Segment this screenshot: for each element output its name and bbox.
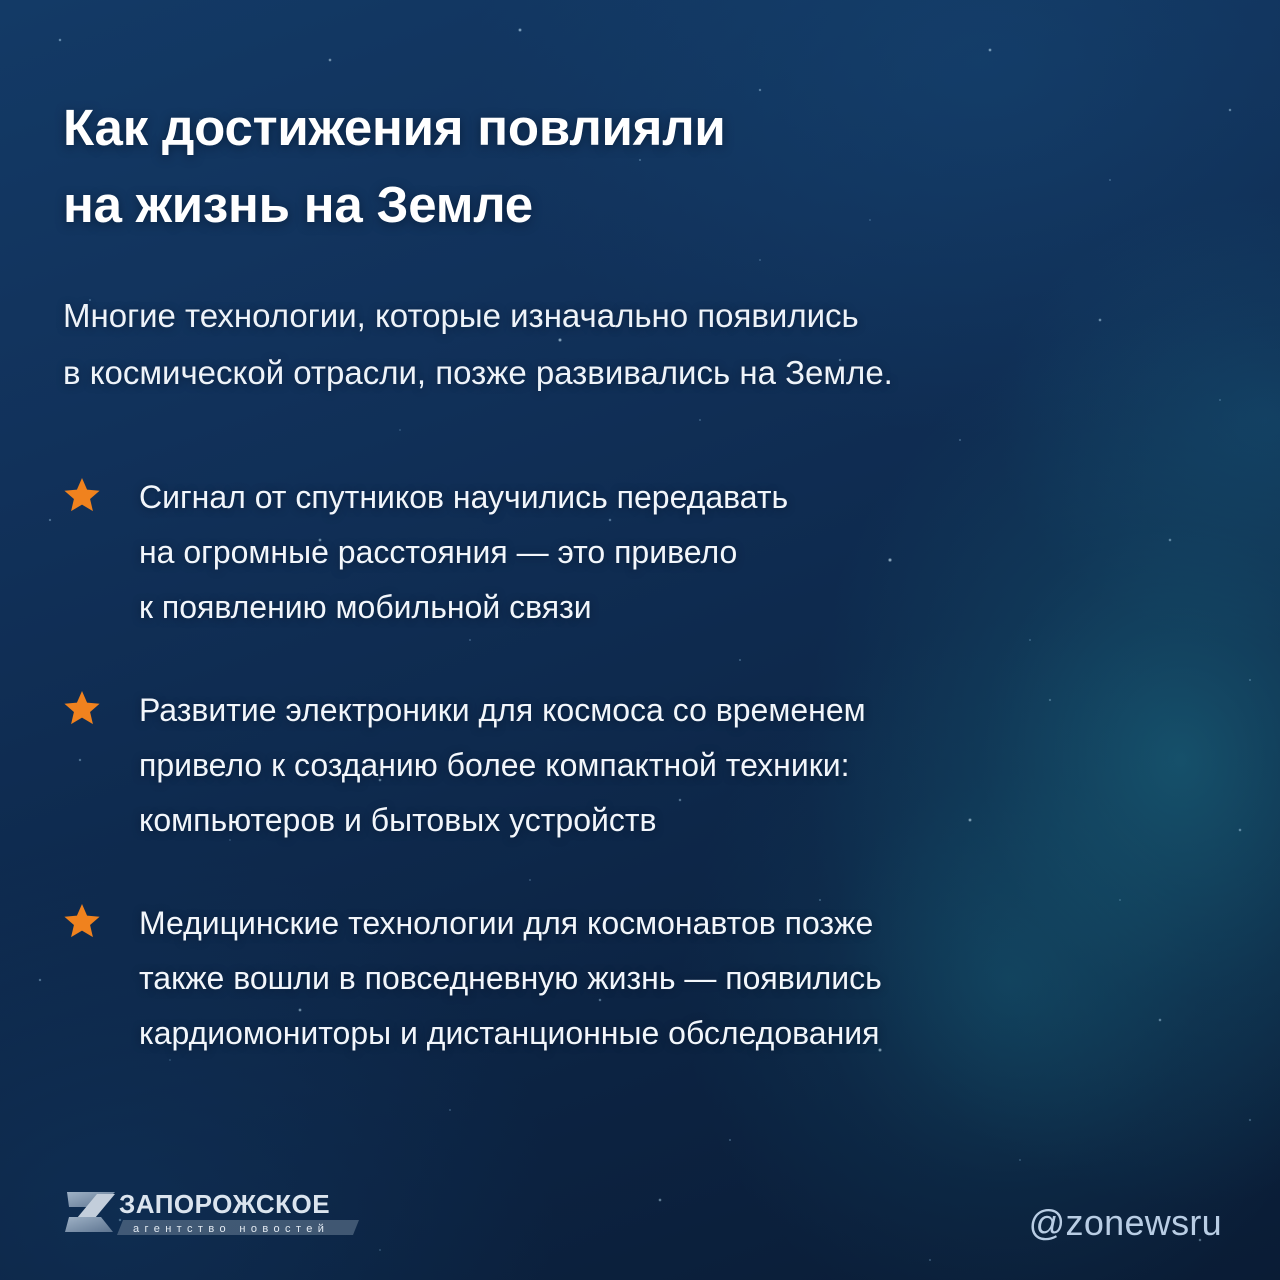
- publisher-logo: ЗАПОРОЖСКОЕ агентство новостей: [63, 1186, 363, 1248]
- list-item-label: Медицинские технологии для космонавтов п…: [139, 905, 882, 1051]
- z-mark-icon: [65, 1192, 115, 1232]
- page-subtitle: Многие технологии, которые изначально по…: [63, 288, 893, 402]
- infographic-canvas: Как достижения повлияли на жизнь на Земл…: [0, 0, 1280, 1280]
- list-item-label: Сигнал от спутников научились передавать…: [139, 479, 788, 625]
- list-item: Медицинские технологии для космонавтов п…: [63, 896, 1223, 1061]
- star-icon: [63, 476, 101, 514]
- social-handle: @zonewsru: [1029, 1202, 1222, 1244]
- logo-tagline: агентство новостей: [133, 1223, 329, 1235]
- list-item: Развитие электроники для космоса со врем…: [63, 683, 1223, 848]
- star-icon: [63, 689, 101, 727]
- content-area: Как достижения повлияли на жизнь на Земл…: [63, 0, 1280, 1280]
- page-title: Как достижения повлияли на жизнь на Земл…: [63, 90, 726, 243]
- list-item-label: Развитие электроники для космоса со врем…: [139, 692, 866, 838]
- star-icon: [63, 902, 101, 940]
- logo-wordmark: ЗАПОРОЖСКОЕ: [119, 1189, 330, 1219]
- list-item: Сигнал от спутников научились передавать…: [63, 470, 1223, 635]
- bullet-list: Сигнал от спутников научились передавать…: [63, 470, 1223, 1061]
